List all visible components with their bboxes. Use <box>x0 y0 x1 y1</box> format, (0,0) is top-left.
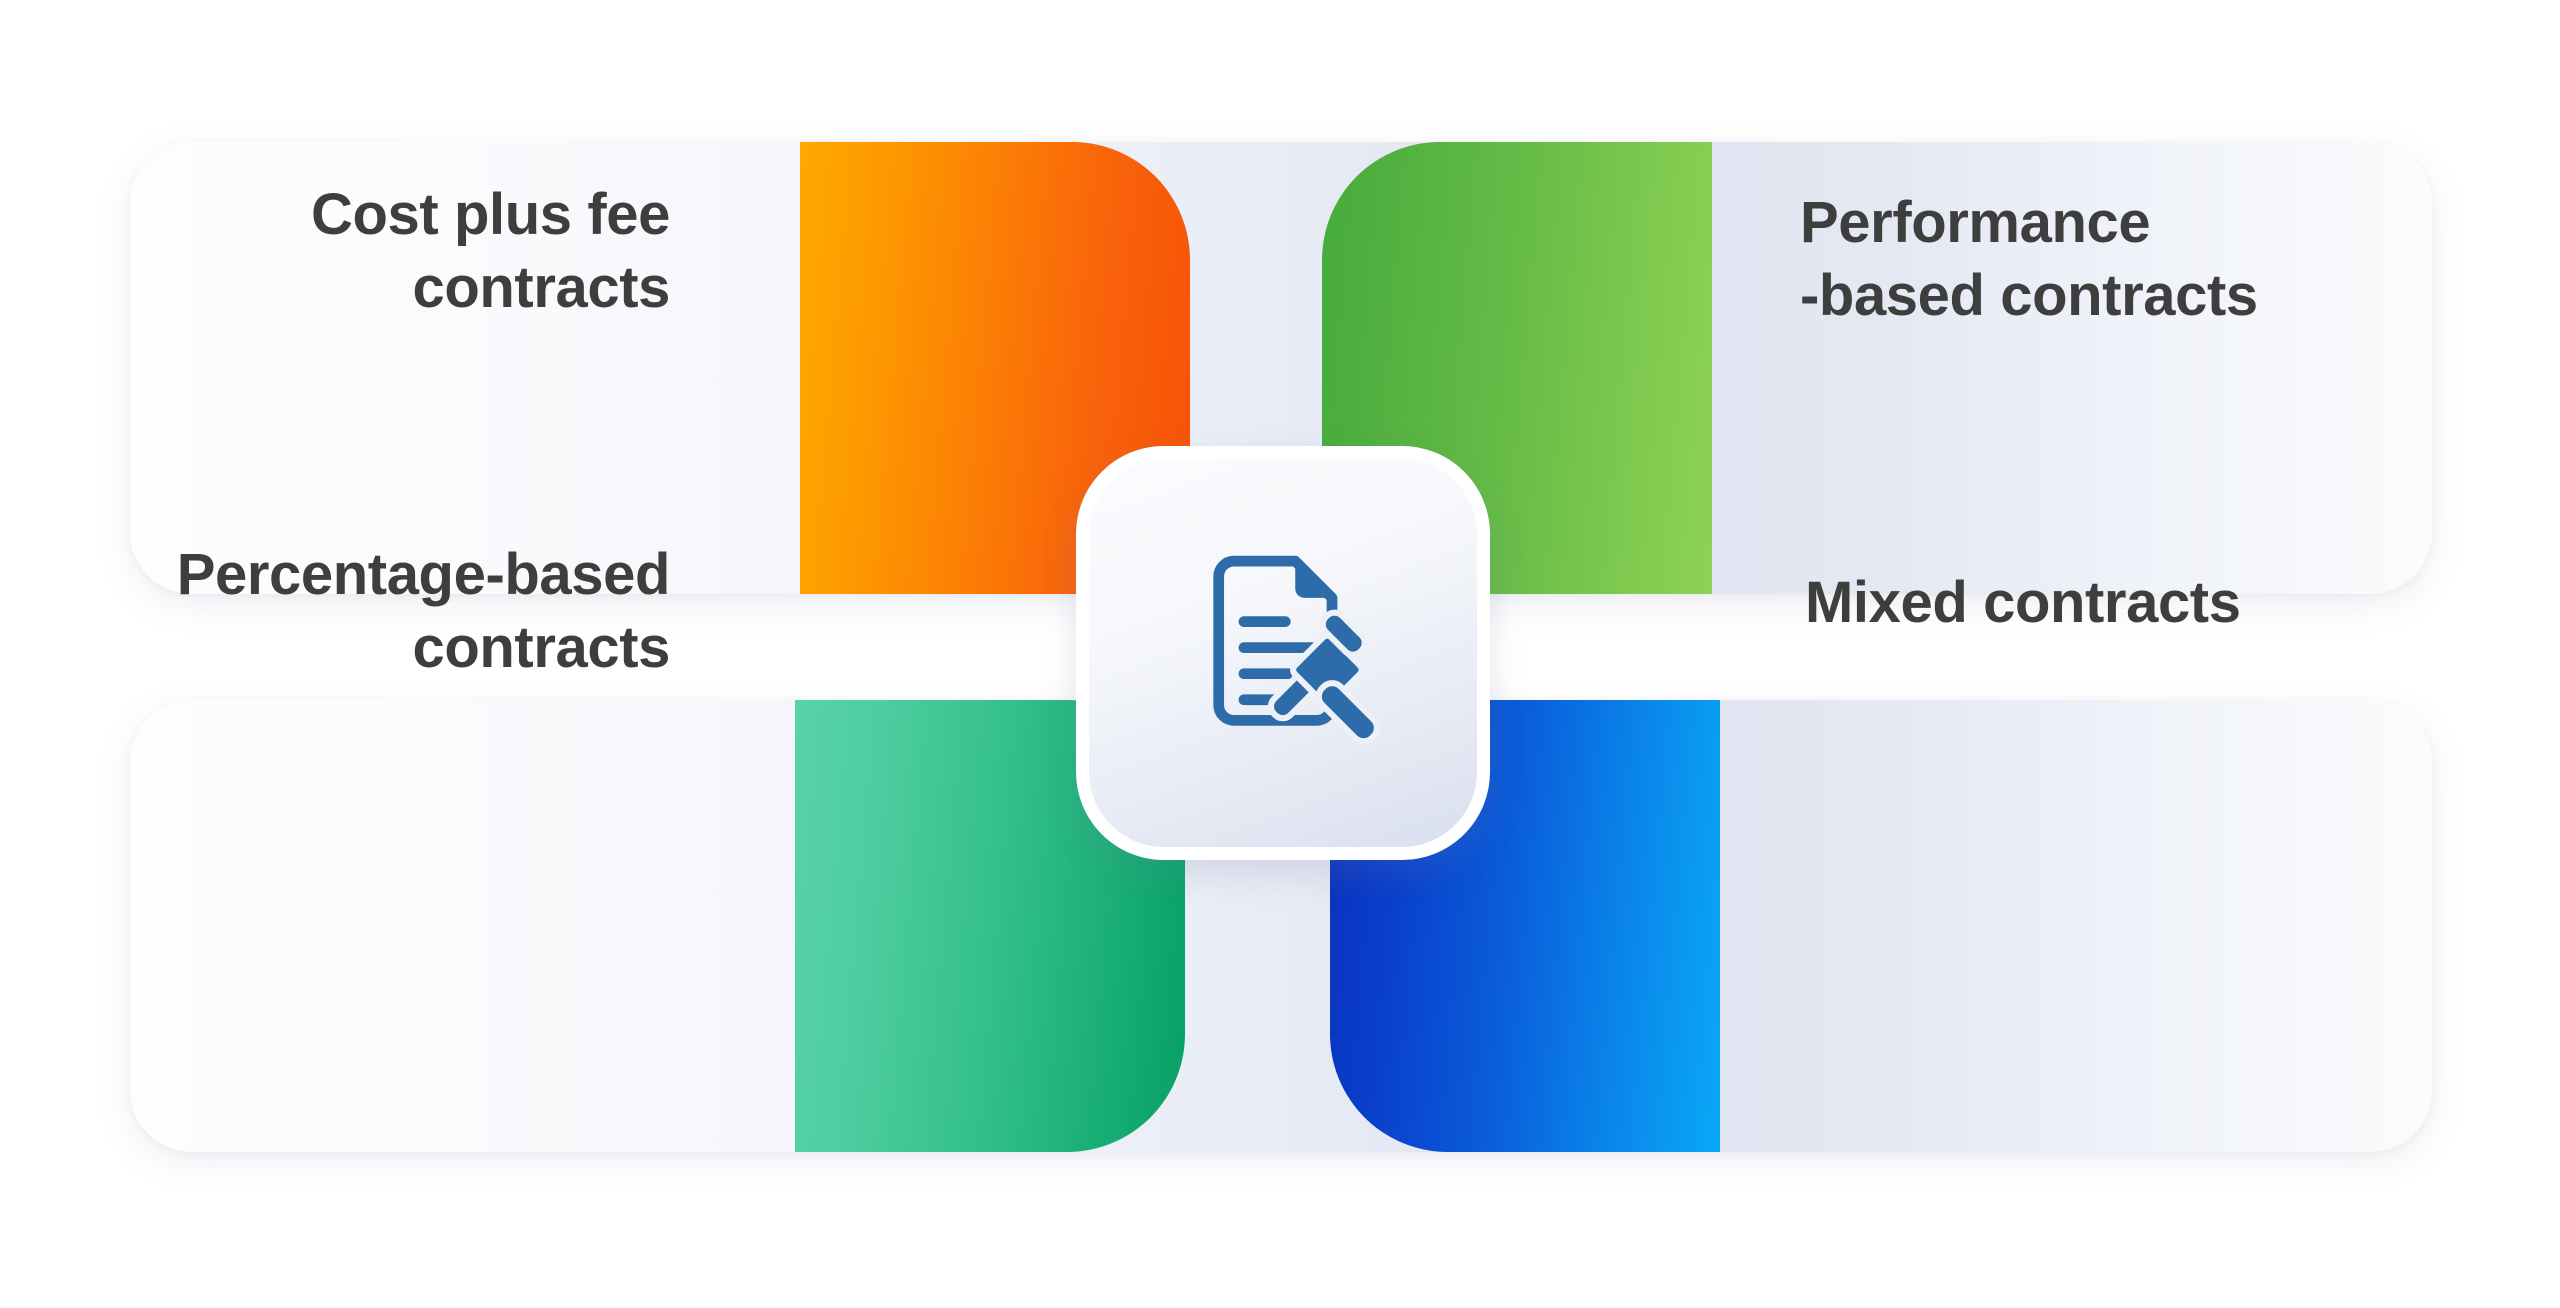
document-gavel-icon <box>1185 555 1381 751</box>
center-icon-tile[interactable] <box>1076 446 1490 860</box>
label-performance-based-contracts: Performance -based contracts <box>1800 186 2400 332</box>
label-percentage-based-contracts: Percentage-based contracts <box>60 538 670 684</box>
label-mixed-contracts: Mixed contracts <box>1805 566 2405 639</box>
infographic-canvas: Cost plus fee contracts Performance -bas… <box>0 0 2560 1308</box>
label-cost-plus-fee-contracts: Cost plus fee contracts <box>150 178 670 324</box>
